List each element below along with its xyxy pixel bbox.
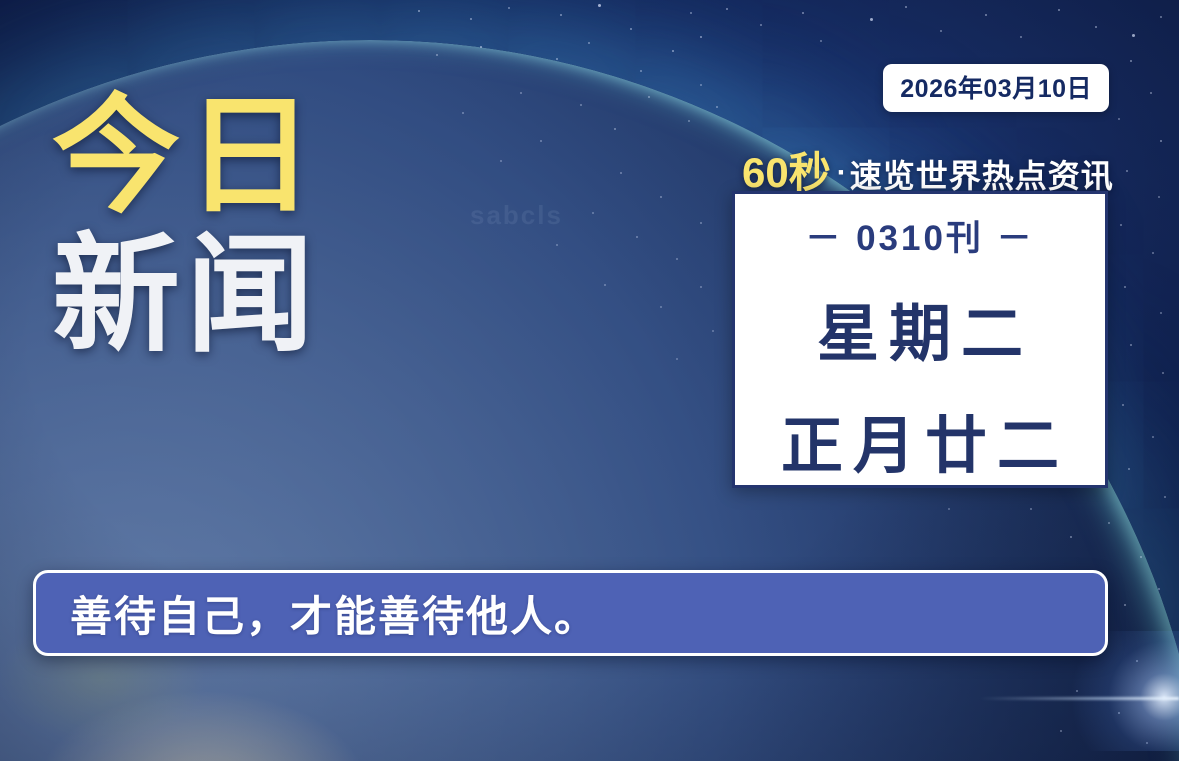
info-card: － 0310刊 － 星期二 正月廿二 [732,191,1108,488]
masthead-line-news: 新闻 [52,235,320,358]
news-poster: sabcls 2026年03月10日 今日 新闻 60秒·速览世界热点资讯 － … [0,0,1179,761]
tagline-separator-icon: · [831,156,850,189]
tagline-seconds: 60秒 [742,149,831,196]
quote-bar: 善待自己，才能善待他人。 [33,570,1108,656]
issue-number: － 0310刊 － [805,210,1034,261]
weekday-label: 星期二 [807,283,1033,373]
date-badge: 2026年03月10日 [883,64,1109,112]
quote-text: 善待自己，才能善待他人。 [36,583,598,644]
lunar-date-label: 正月廿二 [771,395,1069,485]
tagline-description: 速览世界热点资讯 [850,158,1114,194]
masthead-line-today: 今日 [52,96,320,219]
masthead: 今日 新闻 [52,96,320,358]
